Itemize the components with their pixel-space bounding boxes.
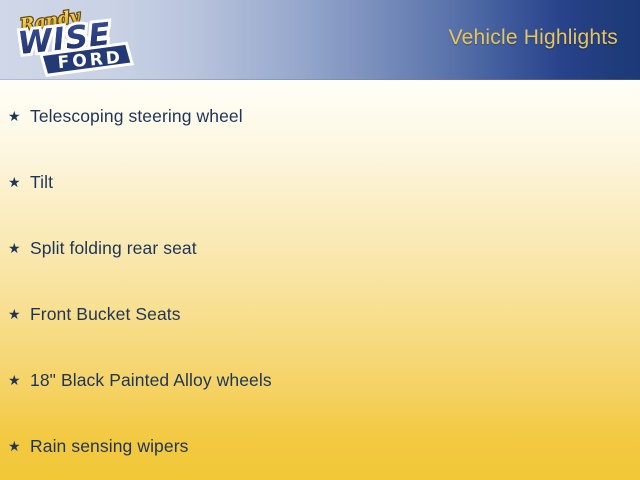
page-header: Randy WISE WISE FORD Vehicle Highlights — [0, 0, 640, 80]
list-item: ★ Split folding rear seat — [8, 235, 197, 261]
highlights-content: ★ Telescoping steering wheel ★ Tilt ★ Sp… — [0, 80, 640, 480]
feature-label: Tilt — [30, 172, 53, 193]
randy-wise-ford-logo: Randy WISE WISE FORD — [6, 1, 134, 79]
star-icon: ★ — [8, 241, 30, 255]
feature-label: Front Bucket Seats — [30, 304, 181, 325]
feature-label: Rain sensing wipers — [30, 436, 189, 457]
feature-label: 18" Black Painted Alloy wheels — [30, 370, 272, 391]
star-icon: ★ — [8, 439, 30, 453]
list-item: ★ 18" Black Painted Alloy wheels — [8, 367, 272, 393]
star-icon: ★ — [8, 373, 30, 387]
list-item: ★ Rain sensing wipers — [8, 433, 189, 459]
svg-text:FORD: FORD — [57, 48, 124, 74]
feature-label: Split folding rear seat — [30, 238, 197, 259]
star-icon: ★ — [8, 175, 30, 189]
feature-label: Telescoping steering wheel — [30, 106, 243, 127]
star-icon: ★ — [8, 109, 30, 123]
list-item: ★ Telescoping steering wheel — [8, 103, 243, 129]
list-item: ★ Tilt — [8, 169, 53, 195]
vehicle-highlights-page: Randy WISE WISE FORD Vehicle Highlights — [0, 0, 640, 480]
page-title: Vehicle Highlights — [449, 26, 618, 50]
list-item: ★ Front Bucket Seats — [8, 301, 181, 327]
star-icon: ★ — [8, 307, 30, 321]
